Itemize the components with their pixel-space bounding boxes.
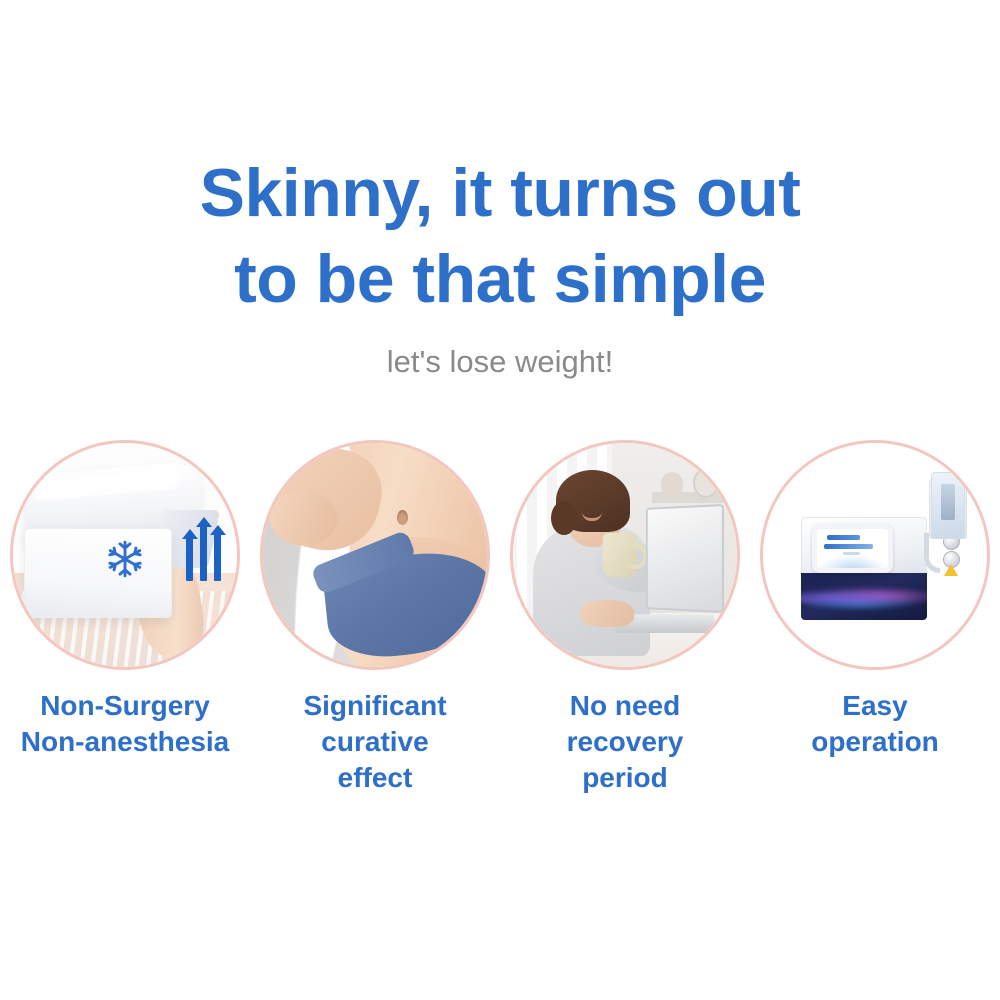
wave-graphic bbox=[801, 587, 926, 609]
headline-line-1: Skinny, it turns out bbox=[0, 150, 1000, 236]
feature-list: Non-Surgery Non-anesthesia bbox=[0, 440, 1000, 800]
slimming-machine-photo bbox=[763, 443, 987, 667]
page-title: Skinny, it turns out to be that simple bbox=[0, 150, 1000, 322]
handpiece-cable bbox=[924, 533, 940, 573]
applicator-body bbox=[24, 528, 172, 618]
arrow-up-icon bbox=[186, 537, 193, 581]
infographic-page: Skinny, it turns out to be that simple l… bbox=[0, 0, 1000, 1000]
screen-title-bar bbox=[824, 544, 873, 549]
caption-line: effect bbox=[303, 760, 446, 796]
coffee-mug bbox=[603, 533, 637, 577]
caption-line: operation bbox=[811, 724, 939, 760]
caption-line: Significant bbox=[303, 688, 446, 724]
treatment-handpiece bbox=[931, 472, 965, 539]
feature-caption-3: No need recovery period bbox=[567, 688, 684, 796]
caption-line: Easy bbox=[811, 688, 939, 724]
feature-caption-1: Non-Surgery Non-anesthesia bbox=[21, 688, 230, 760]
caption-line: No need bbox=[567, 688, 684, 724]
caption-line: period bbox=[567, 760, 684, 796]
vase-decor bbox=[693, 468, 719, 498]
caption-line: Non-Surgery bbox=[21, 688, 230, 724]
feature-caption-2: Significant curative effect bbox=[303, 688, 446, 796]
feature-item-curative-effect: Significant curative effect bbox=[255, 440, 495, 796]
headline-line-2: to be that simple bbox=[0, 236, 1000, 322]
feature-item-non-surgery: Non-Surgery Non-anesthesia bbox=[5, 440, 245, 760]
feature-caption-4: Easy operation bbox=[811, 688, 939, 760]
feature-image-circle-2 bbox=[260, 440, 490, 670]
screen-logo bbox=[827, 535, 859, 540]
screen-wave-graphic bbox=[817, 555, 888, 568]
woman-hands bbox=[580, 600, 634, 627]
caption-line: Non-anesthesia bbox=[21, 724, 230, 760]
caption-line: curative bbox=[303, 724, 446, 760]
warning-triangle-icon bbox=[944, 564, 958, 576]
shelf bbox=[652, 492, 728, 503]
suction-arrows-icon bbox=[186, 515, 221, 581]
slim-female-torso-photo bbox=[263, 443, 487, 667]
arrow-up-icon bbox=[214, 533, 221, 581]
feature-image-circle-1 bbox=[10, 440, 240, 670]
woman-with-laptop-photo bbox=[513, 443, 737, 667]
snowflake-icon bbox=[104, 538, 146, 580]
arrow-up-icon bbox=[200, 525, 207, 581]
feature-image-circle-3 bbox=[510, 440, 740, 670]
page-subtitle: let's lose weight! bbox=[0, 342, 1000, 382]
caption-line: recovery bbox=[567, 724, 684, 760]
laptop-screen bbox=[646, 504, 724, 613]
feature-item-no-recovery: No need recovery period bbox=[505, 440, 745, 796]
feature-item-easy-operation: Easy operation bbox=[755, 440, 995, 760]
machine-touchscreen bbox=[812, 524, 893, 573]
cryolipolysis-applicator-photo bbox=[13, 443, 237, 667]
plant-decor bbox=[661, 472, 683, 496]
feature-image-circle-4 bbox=[760, 440, 990, 670]
machine-base bbox=[801, 573, 926, 620]
